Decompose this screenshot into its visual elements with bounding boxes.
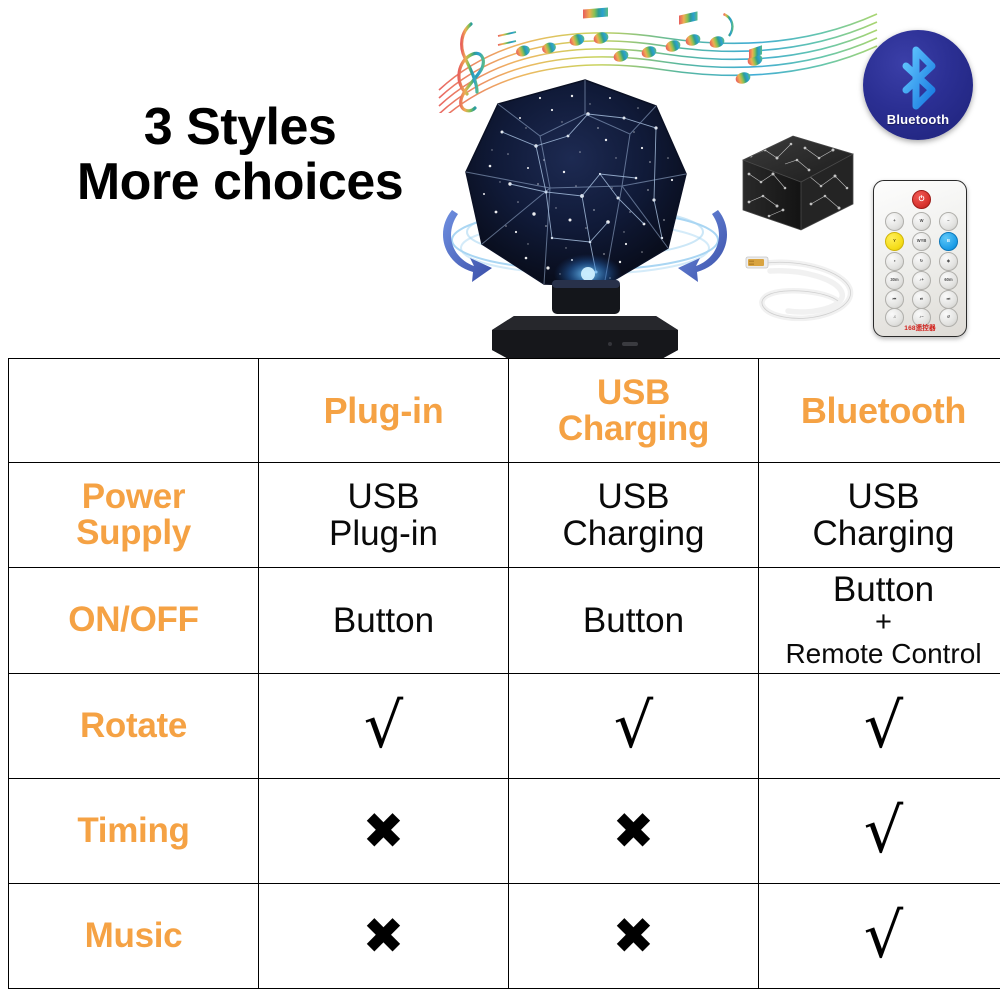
check-icon: √ [364, 695, 404, 757]
row-label-power-supply: Power Supply [9, 463, 259, 568]
remote-previous-track-button[interactable]: ⏮ [885, 290, 904, 309]
table-row: Music ✖ ✖ √ [9, 884, 1000, 989]
cell-text-line: USB [511, 478, 756, 515]
remote-yellow-button[interactable]: Y [885, 232, 904, 251]
bluetooth-badge: Bluetooth [863, 30, 973, 140]
row-label-power-supply-line-2: Supply [11, 515, 256, 551]
remote-brightness-up-button[interactable]: + [885, 212, 904, 231]
remote-next-track-button[interactable]: ⏭ [939, 290, 958, 309]
check-icon: √ [864, 800, 904, 862]
cell-on-off-plug-in: Button [259, 568, 509, 674]
cell-text-line: USB [761, 478, 1000, 515]
row-label-timing: Timing [9, 779, 259, 884]
cell-rotate-plug-in: √ [259, 674, 509, 779]
cell-on-off-bluetooth: Button + Remote Control [759, 568, 1000, 674]
star-projector-lamp [440, 62, 730, 362]
bluetooth-icon [892, 46, 944, 110]
hero-section: 3 Styles More choices [0, 0, 1000, 358]
column-header-bluetooth: Bluetooth [759, 359, 1000, 463]
check-icon: √ [864, 905, 904, 967]
remote-timer-30min-button[interactable]: 30m [885, 271, 904, 290]
cell-power-supply-bluetooth: USB Charging [759, 463, 1000, 568]
remote-timer-60min-button[interactable]: 60m [939, 271, 958, 290]
headline-line-2: More choices [40, 155, 440, 210]
cross-icon: ✖ [613, 911, 655, 961]
row-label-power-supply-line-1: Power [11, 479, 256, 515]
table-row: Rotate √ √ √ [9, 674, 1000, 779]
cell-text-line: Charging [511, 515, 756, 552]
product-comparison-infographic: 3 Styles More choices [0, 0, 1000, 1000]
row-label-rotate: Rotate [9, 674, 259, 779]
remote-volume-up-button[interactable]: ♪+ [912, 271, 931, 290]
cell-timing-usb-charging: ✖ [509, 779, 759, 884]
cell-text-line: Charging [761, 515, 1000, 552]
cell-power-supply-plug-in: USB Plug-in [259, 463, 509, 568]
headline-line-1: 3 Styles [40, 100, 440, 155]
remote-model-label: 168遥控器 [874, 322, 966, 332]
remote-brightness-down-button[interactable]: − [939, 212, 958, 231]
column-header-usb-charging: USB Charging [509, 359, 759, 463]
cell-text-line: Remote Control [761, 638, 1000, 669]
cell-text-line: Plug-in [261, 515, 506, 552]
constellation-gift-box [735, 130, 860, 240]
row-label-on-off: ON/OFF [9, 568, 259, 674]
cross-icon: ✖ [363, 806, 405, 856]
usb-charging-cable [740, 245, 865, 330]
cell-on-off-usb-charging: Button [509, 568, 759, 674]
column-header-usb-charging-line-2: Charging [511, 411, 756, 447]
cell-music-usb-charging: ✖ [509, 884, 759, 989]
remote-white-button[interactable]: W [912, 212, 931, 231]
table-row: Power Supply USB Plug-in USB Charging US… [9, 463, 1000, 568]
cell-text-line: Button [261, 602, 506, 639]
column-header-bluetooth-label: Bluetooth [761, 393, 1000, 429]
remote-rotate-button[interactable]: ↻ [912, 252, 931, 271]
remote-wyb-button[interactable]: WYB [912, 232, 931, 251]
cell-text-line: USB [261, 478, 506, 515]
table-corner-cell [9, 359, 259, 463]
remote-power-button[interactable]: ⏻ [912, 190, 931, 209]
column-header-plug-in: Plug-in [259, 359, 509, 463]
cell-text-line: Button [761, 572, 1000, 608]
row-label-rotate-text: Rotate [11, 708, 256, 744]
cross-icon: ✖ [363, 911, 405, 961]
cell-timing-bluetooth: √ [759, 779, 1000, 884]
cross-icon: ✖ [613, 806, 655, 856]
column-header-plug-in-label: Plug-in [261, 393, 506, 429]
cell-rotate-bluetooth: √ [759, 674, 1000, 779]
remote-play-pause-button[interactable]: ⏯ [912, 290, 931, 309]
row-label-music-text: Music [11, 918, 256, 954]
row-label-music: Music [9, 884, 259, 989]
cell-music-plug-in: ✖ [259, 884, 509, 989]
check-icon: √ [614, 695, 654, 757]
remote-dim-button[interactable]: ◑ [885, 252, 904, 271]
cell-text-line: Button [511, 602, 756, 639]
headline: 3 Styles More choices [40, 100, 440, 210]
remote-mode-button[interactable]: ◈ [939, 252, 958, 271]
feature-comparison-table: Plug-in USB Charging Bluetooth Power Sup… [8, 358, 1000, 989]
cell-rotate-usb-charging: √ [509, 674, 759, 779]
cell-timing-plug-in: ✖ [259, 779, 509, 884]
check-icon: √ [864, 695, 904, 757]
table-header-row: Plug-in USB Charging Bluetooth [9, 359, 1000, 463]
table-row: Timing ✖ ✖ √ [9, 779, 1000, 884]
row-label-on-off-text: ON/OFF [11, 602, 256, 638]
bluetooth-badge-label: Bluetooth [863, 112, 973, 127]
column-header-usb-charging-line-1: USB [511, 375, 756, 411]
remote-blue-button[interactable]: B [939, 232, 958, 251]
cell-power-supply-usb-charging: USB Charging [509, 463, 759, 568]
row-label-timing-text: Timing [11, 813, 256, 849]
remote-control[interactable]: ⏻ + W − Y WYB B ◑ ↻ ◈ 30m ♪+ 60m ⏮ ⏯ ⏭ ♫… [873, 180, 967, 337]
table-row: ON/OFF Button Button Button + Remote Con… [9, 568, 1000, 674]
cell-text-line: + [761, 607, 1000, 637]
cell-music-bluetooth: √ [759, 884, 1000, 989]
